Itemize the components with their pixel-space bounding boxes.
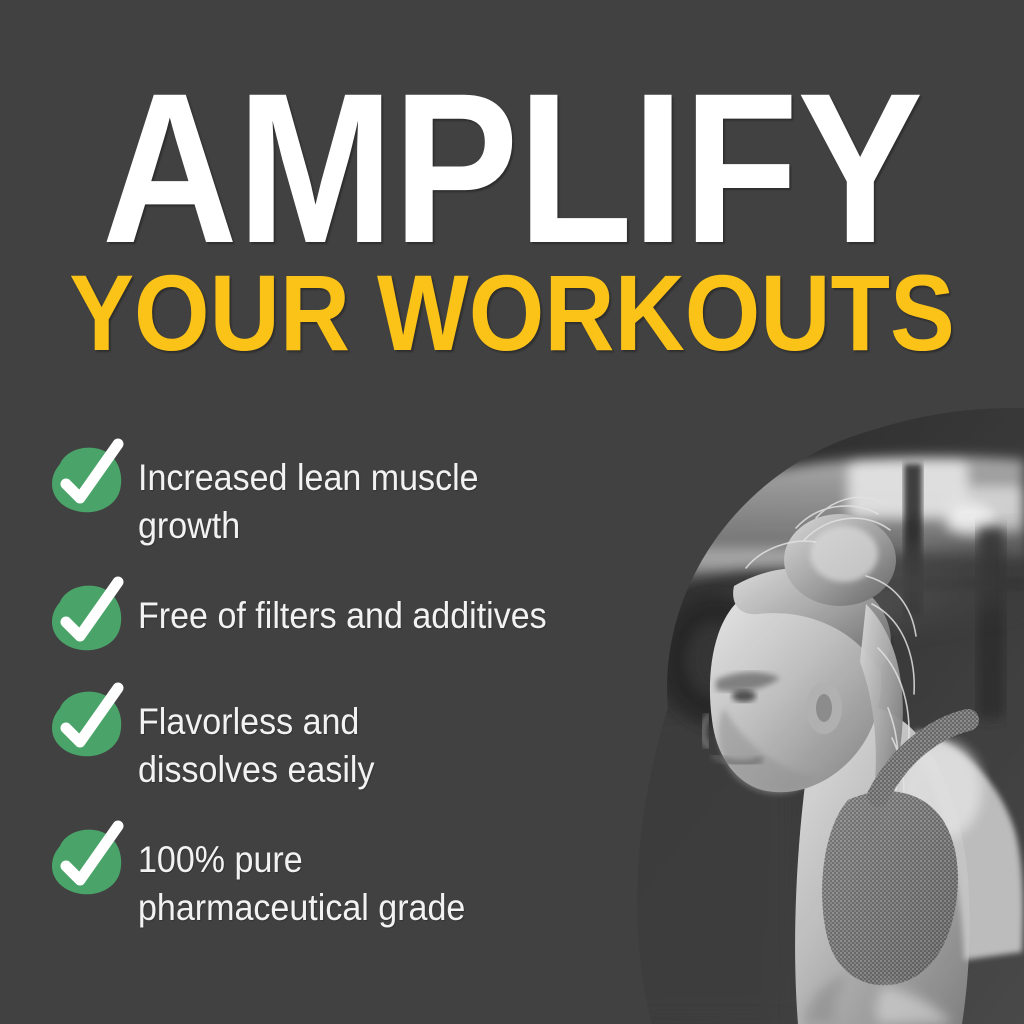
promo-poster: AMPLIFY YOUR WORKOUTS Increased lean mus…: [0, 0, 1024, 1024]
list-item: Flavorless and dissolves easily: [50, 692, 610, 794]
green-check-icon: [50, 448, 126, 518]
green-check-icon: [50, 586, 126, 656]
list-item-label: Flavorless and dissolves easily: [138, 692, 374, 794]
green-check-icon-glyph: [46, 822, 130, 902]
list-item-label: Increased lean muscle growth: [138, 448, 572, 550]
page-title: AMPLIFY: [61, 62, 962, 276]
photo-artwork: [548, 408, 1024, 1024]
green-check-icon: [50, 692, 126, 762]
green-check-icon-glyph: [46, 684, 130, 764]
list-item-label: Free of filters and additives: [138, 586, 547, 640]
green-check-icon-glyph: [46, 578, 130, 658]
green-check-icon-glyph: [46, 440, 130, 520]
list-item: Increased lean muscle growth: [50, 448, 610, 550]
list-item-label: 100% pure pharmaceutical grade: [138, 830, 465, 932]
list-item: 100% pure pharmaceutical grade: [50, 830, 610, 932]
page-subtitle: YOUR WORKOUTS: [51, 259, 973, 367]
green-check-icon: [50, 830, 126, 900]
benefits-list: Increased lean muscle growth Free of fil…: [50, 448, 610, 932]
woman-lifting-barbell-gym-photo: [548, 408, 1024, 1024]
list-item: Free of filters and additives: [50, 586, 610, 656]
